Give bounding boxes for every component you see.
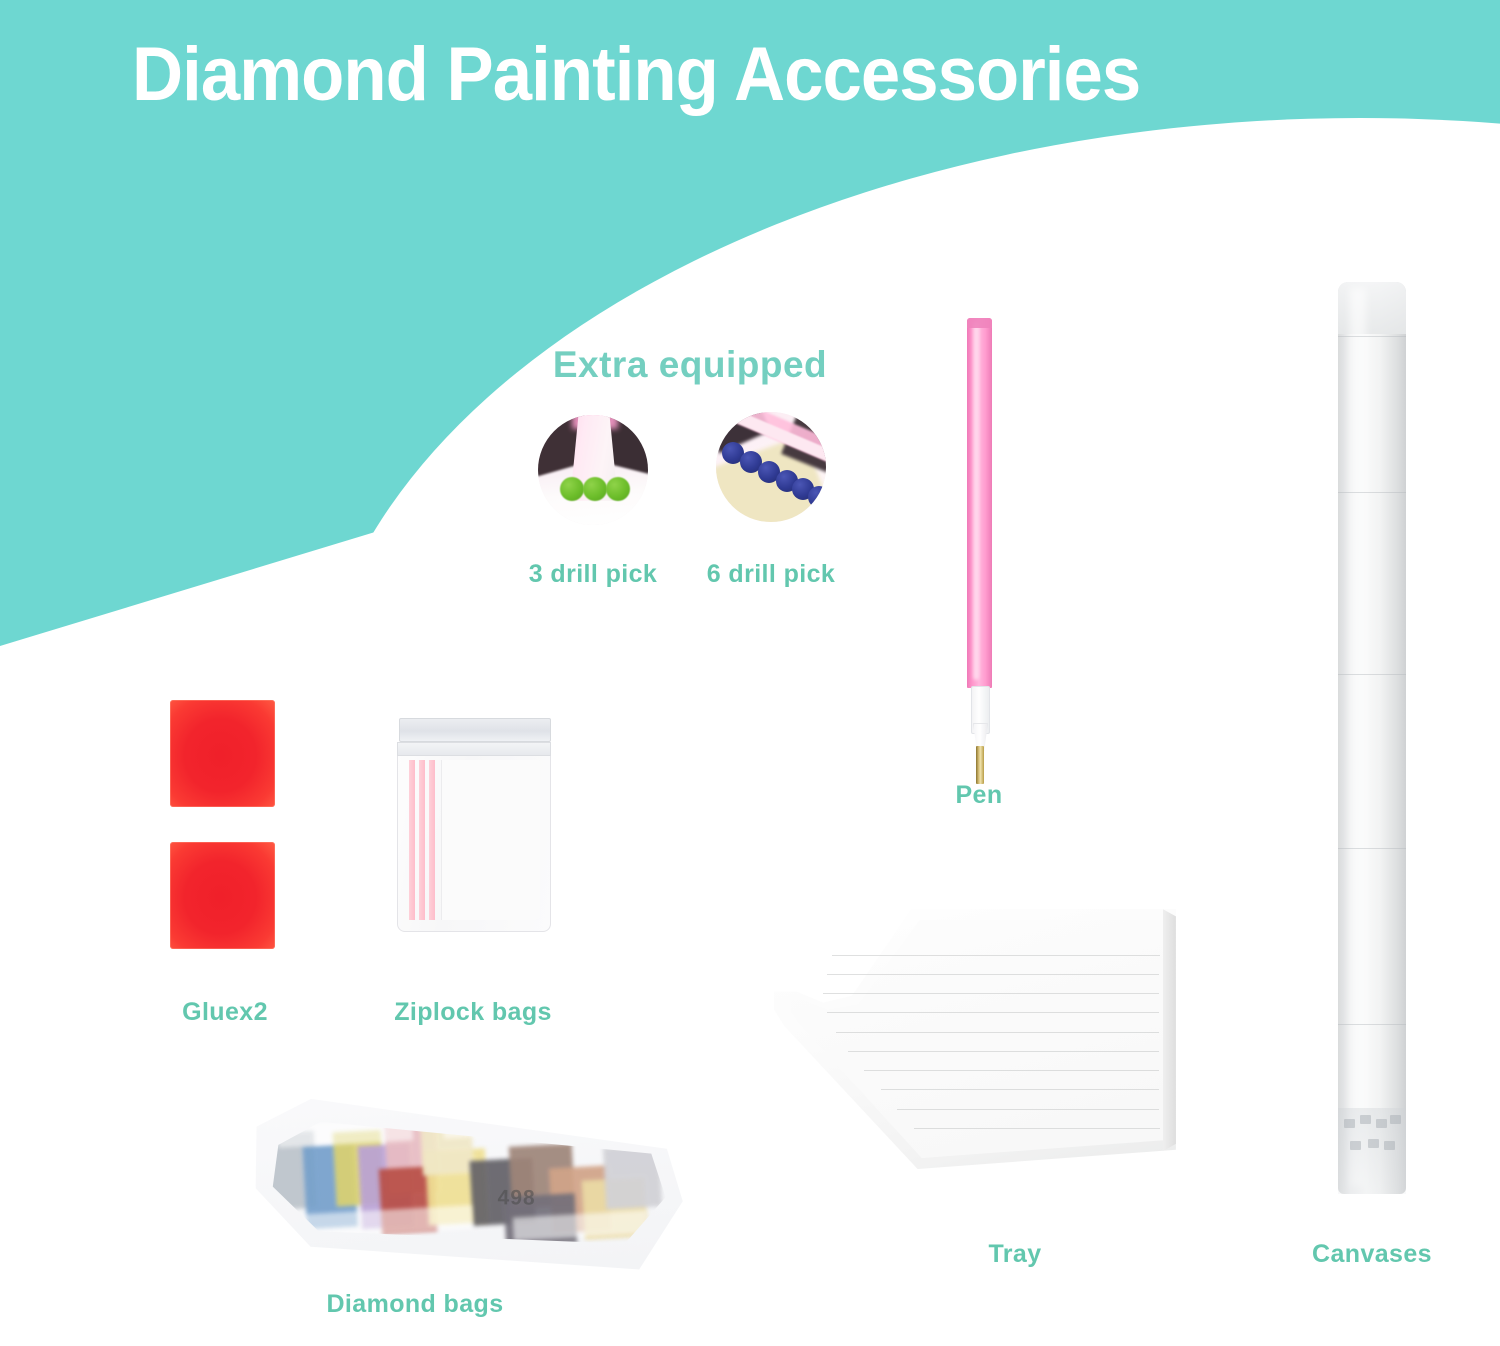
drill-tray-icon: [770, 905, 1180, 1180]
pen-label: Pen: [879, 781, 1079, 810]
ziplock-label: Ziplock bags: [378, 998, 568, 1027]
glue-label: Gluex2: [130, 998, 320, 1027]
drill-pick-6-label: 6 drill pick: [671, 560, 871, 589]
drill-pick-6-icon: [716, 412, 826, 522]
glue-square-icon: [170, 700, 275, 807]
ziplock-bag-icon: [393, 718, 553, 933]
drill-pick-3-icon: [538, 415, 648, 525]
drill-pick-3-label: 3 drill pick: [493, 560, 693, 589]
tray-label: Tray: [915, 1240, 1115, 1269]
canvases-label: Canvases: [1272, 1240, 1472, 1269]
diamond-bags-label: Diamond bags: [275, 1290, 555, 1319]
canvas-roll-icon: [1338, 282, 1406, 1194]
page-title: Diamond Painting Accessories: [132, 32, 1140, 118]
banner-white-ellipse: [310, 118, 1500, 700]
product-infographic: Diamond Painting Accessories Extra equip…: [0, 0, 1500, 1346]
diamond-bags-icon: 498: [251, 1074, 692, 1303]
drill-pen-icon: [962, 318, 996, 768]
glue-square-icon: [170, 842, 275, 949]
extra-equipped-heading: Extra equipped: [540, 344, 840, 386]
diamond-bag-code: 498: [497, 1186, 535, 1211]
